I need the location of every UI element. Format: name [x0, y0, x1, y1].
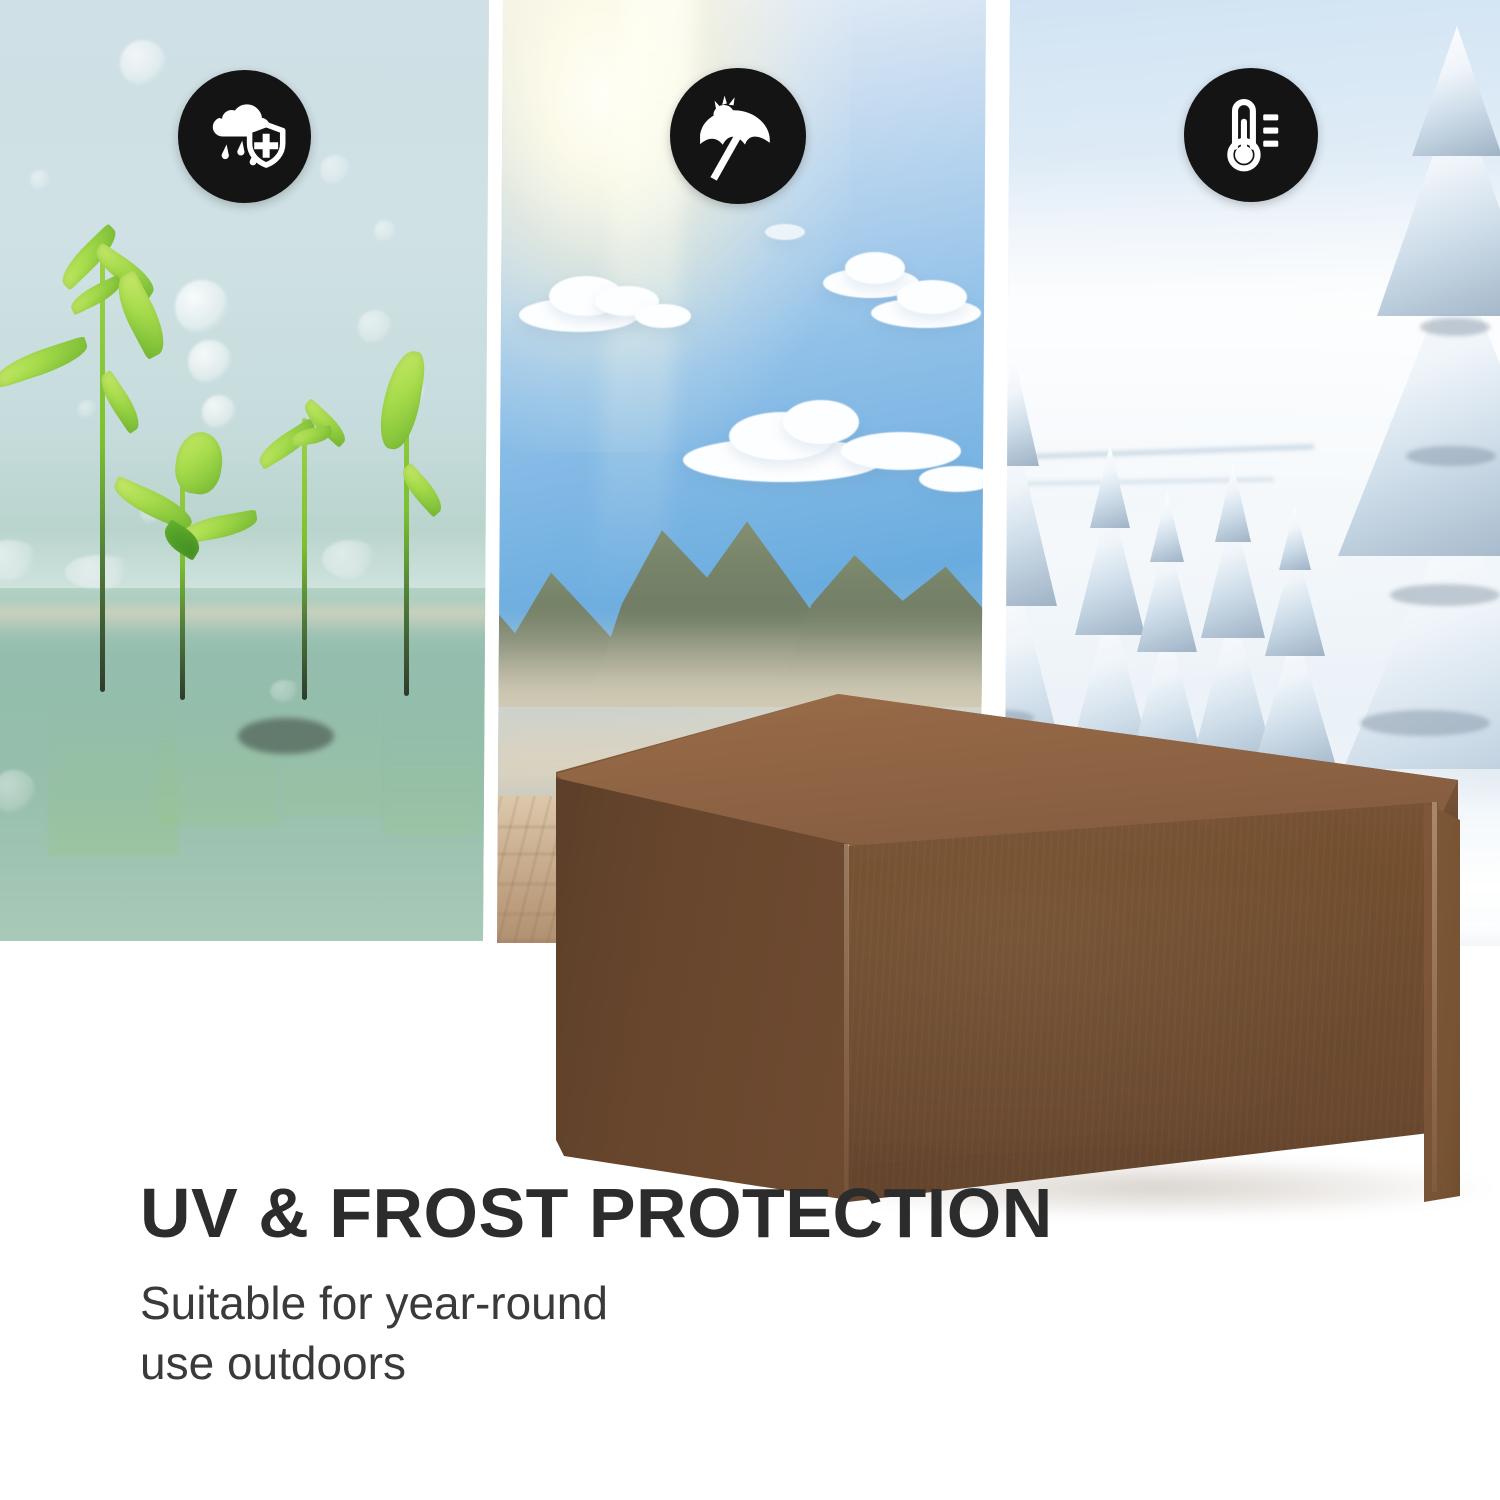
rain-cloud-shield-icon: [199, 91, 291, 183]
cloud: [897, 280, 967, 314]
product-planter: [548, 672, 1468, 1202]
seedling: [270, 418, 390, 700]
seedling-leaf: [108, 270, 175, 360]
seedling-leaf: [376, 348, 427, 452]
product-feature-graphic: UV & FROST PROTECTION Suitable for year-…: [0, 0, 1500, 1500]
fir-shadow: [1406, 446, 1496, 466]
fir-shadow: [1420, 318, 1490, 336]
fir-shadow: [1390, 584, 1500, 606]
cloud: [783, 400, 859, 444]
cloud: [841, 432, 961, 470]
badge-uv-protection[interactable]: [670, 68, 806, 204]
bokeh-dot: [374, 220, 396, 242]
bokeh-dot: [175, 280, 229, 334]
fir-tier: [1004, 356, 1039, 466]
water-reflection: [158, 696, 278, 826]
cloud: [919, 466, 986, 492]
badge-frost-protection[interactable]: [1184, 68, 1318, 202]
parasol-sun-icon: [690, 88, 786, 184]
seedling: [374, 360, 484, 696]
headline: UV & FROST PROTECTION: [140, 1178, 1300, 1248]
bokeh-dot: [30, 170, 50, 190]
seedling-stem: [100, 242, 105, 692]
bokeh-dot: [188, 340, 232, 384]
bokeh-dot: [320, 155, 350, 185]
bokeh-dot: [202, 395, 236, 429]
badge-rain-protection[interactable]: [178, 70, 311, 203]
thermometer-scale-marks: [1263, 114, 1278, 146]
water-reflection: [384, 696, 480, 836]
water-reflection: [282, 696, 382, 816]
planter-left-edge-highlight: [844, 844, 849, 1204]
planter-right-edge-highlight: [1432, 802, 1437, 1192]
thermometer-bulb: [1235, 146, 1253, 164]
bokeh-dot: [120, 40, 166, 86]
cloud: [845, 252, 905, 284]
cloud: [635, 304, 691, 328]
dark-stone: [238, 718, 334, 754]
subline: Suitable for year-round use outdoors: [140, 1274, 1300, 1394]
thermometer-icon: [1204, 88, 1298, 182]
cloud: [765, 224, 805, 240]
caption-block: UV & FROST PROTECTION Suitable for year-…: [140, 1178, 1300, 1394]
seedling-stem: [302, 418, 307, 700]
bokeh-dot: [358, 310, 392, 344]
